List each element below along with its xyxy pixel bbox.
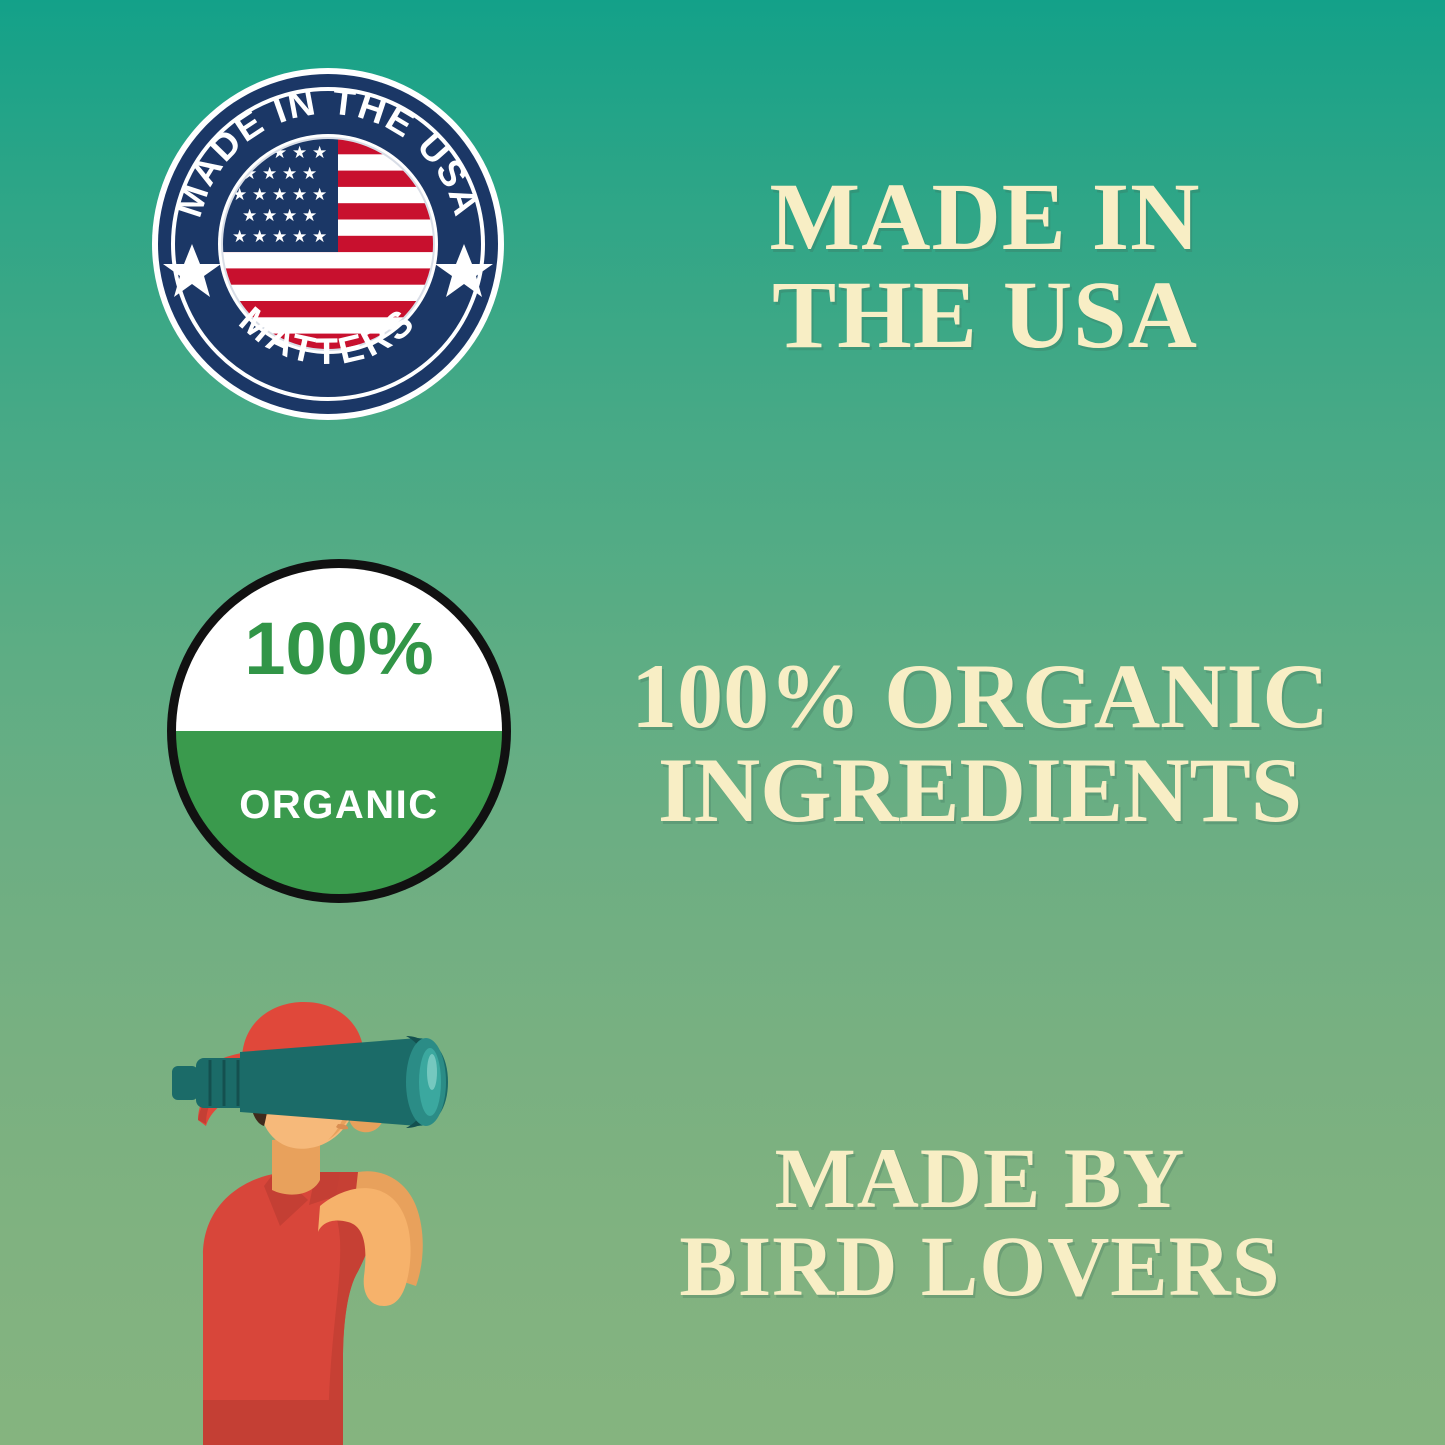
infographic-canvas: ★★ ★★ ★ ★★ ★★ ★★ ★★ ★ ★★ ★★ ★★ ★★ ★ — [0, 0, 1445, 1445]
made-in-usa-seal-icon: ★★ ★★ ★ ★★ ★★ ★★ ★★ ★ ★★ ★★ ★★ ★★ ★ — [152, 68, 504, 420]
svg-text:★: ★ — [272, 227, 287, 246]
svg-text:★: ★ — [292, 185, 307, 204]
svg-text:★: ★ — [252, 227, 267, 246]
svg-text:★: ★ — [312, 185, 327, 204]
svg-text:★: ★ — [292, 143, 307, 162]
svg-text:★: ★ — [302, 206, 317, 225]
organic-label: ORGANIC — [239, 783, 438, 827]
svg-text:★: ★ — [262, 206, 277, 225]
svg-text:★: ★ — [242, 206, 257, 225]
binocular-eyecup — [172, 1066, 198, 1100]
organic-badge-icon: 100% ORGANIC — [164, 556, 514, 906]
svg-text:★: ★ — [302, 164, 317, 183]
headline-line: MADE IN — [655, 168, 1315, 266]
birdwatcher-illustration-icon — [168, 1000, 508, 1445]
headline-line: THE USA — [655, 266, 1315, 364]
headline-organic-ingredients: 100% ORGANIC INGREDIENTS — [600, 650, 1360, 838]
organic-percent-label: 100% — [244, 607, 433, 690]
svg-text:★: ★ — [282, 206, 297, 225]
svg-text:★: ★ — [262, 164, 277, 183]
svg-text:★: ★ — [272, 185, 287, 204]
svg-text:★: ★ — [232, 227, 247, 246]
headline-line: 100% ORGANIC — [600, 650, 1360, 744]
headline-line: MADE BY — [630, 1135, 1330, 1223]
headline-made-in-usa: MADE IN THE USA — [655, 168, 1315, 364]
svg-text:★: ★ — [282, 164, 297, 183]
svg-text:★: ★ — [312, 143, 327, 162]
svg-text:★: ★ — [312, 227, 327, 246]
svg-text:★: ★ — [252, 185, 267, 204]
headline-line: BIRD LOVERS — [630, 1223, 1330, 1311]
svg-text:★: ★ — [292, 227, 307, 246]
headline-made-by-bird-lovers: MADE BY BIRD LOVERS — [630, 1135, 1330, 1310]
headline-line: INGREDIENTS — [600, 744, 1360, 838]
